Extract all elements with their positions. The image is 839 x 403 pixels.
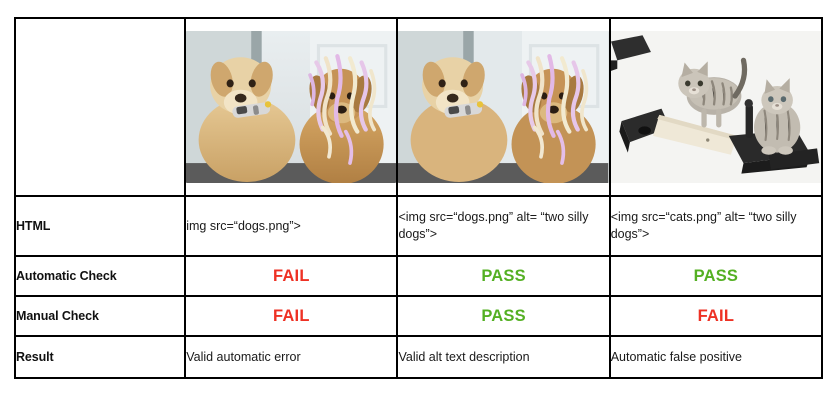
photo-dogs-1 [186, 31, 396, 183]
table-row-html: HTML img src=“dogs.png”> <img src=“dogs.… [15, 196, 822, 256]
row-label-result: Result [15, 336, 185, 378]
manual-check-status-case-1: FAIL [185, 296, 397, 336]
image-cell-case-2 [397, 18, 609, 196]
html-code-case-3: <img src=“cats.png” alt= “two silly dogs… [610, 196, 822, 256]
html-code-case-2: <img src=“dogs.png” alt= “two silly dogs… [397, 196, 609, 256]
image-cell-case-1 [185, 18, 397, 196]
result-text-case-2: Valid alt text description [397, 336, 609, 378]
automatic-check-status-case-1: FAIL [185, 256, 397, 296]
table-row-images [15, 18, 822, 196]
manual-check-status-case-3: FAIL [610, 296, 822, 336]
image-cell-case-3 [610, 18, 822, 196]
photo-dogs-2 [398, 31, 608, 183]
screenshot-root: HTML img src=“dogs.png”> <img src=“dogs.… [0, 0, 839, 403]
row-label-automatic-check: Automatic Check [15, 256, 185, 296]
photo-cats [611, 31, 821, 183]
accessibility-check-comparison-table: HTML img src=“dogs.png”> <img src=“dogs.… [14, 17, 823, 379]
table-row-result: Result Valid automatic error Valid alt t… [15, 336, 822, 378]
table-row-manual-check: Manual Check FAIL PASS FAIL [15, 296, 822, 336]
result-text-case-3: Automatic false positive [610, 336, 822, 378]
html-code-case-1: img src=“dogs.png”> [185, 196, 397, 256]
row-label-html: HTML [15, 196, 185, 256]
automatic-check-status-case-3: PASS [610, 256, 822, 296]
automatic-check-status-case-2: PASS [397, 256, 609, 296]
table-row-automatic-check: Automatic Check FAIL PASS PASS [15, 256, 822, 296]
result-text-case-1: Valid automatic error [185, 336, 397, 378]
manual-check-status-case-2: PASS [397, 296, 609, 336]
row-label-manual-check: Manual Check [15, 296, 185, 336]
empty-corner-cell [15, 18, 185, 196]
